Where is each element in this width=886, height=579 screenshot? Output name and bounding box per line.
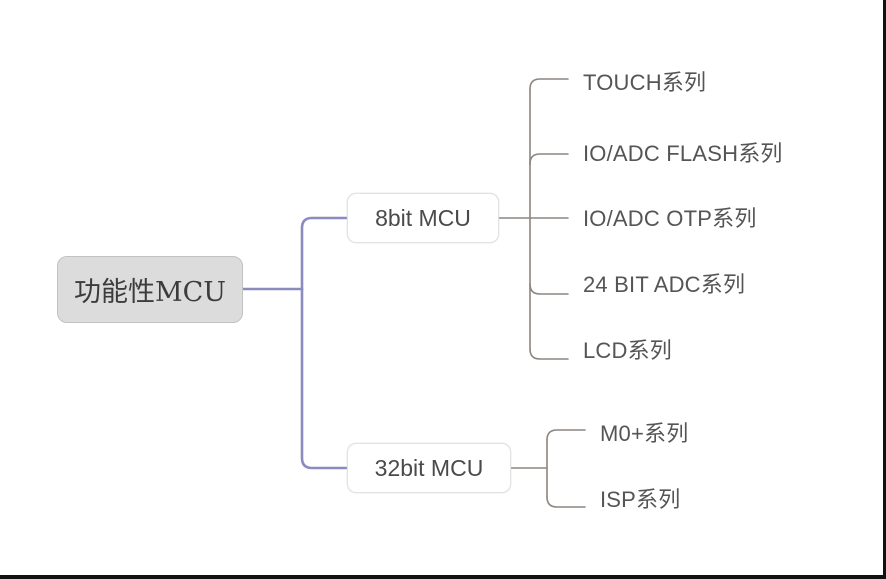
leaf-touch-series[interactable]: TOUCH系列 (583, 72, 706, 94)
connector-trunk-8bit (302, 218, 347, 289)
root-node-label: 功能性MCU (74, 270, 226, 309)
mindmap-canvas: 功能性MCU 8bit MCU 32bit MCU TOUCH系列 IO/ADC… (0, 0, 886, 579)
leaf-isp-series[interactable]: ISP系列 (600, 489, 680, 511)
leaf-lcd-series[interactable]: LCD系列 (583, 340, 672, 362)
connector-trunk-32bit (302, 289, 347, 468)
stub-24bit-adc (530, 284, 568, 294)
leaf-24bit-adc-series[interactable]: 24 BIT ADC系列 (583, 274, 745, 296)
branch-node-8bit-mcu[interactable]: 8bit MCU (347, 193, 499, 243)
stub-io-adc-flash (530, 154, 568, 164)
branch-node-32bit-mcu[interactable]: 32bit MCU (347, 443, 511, 493)
stub-touch (530, 79, 568, 89)
stub-m0plus (547, 430, 585, 440)
branch-node-32bit-mcu-label: 32bit MCU (375, 455, 484, 482)
branch-node-8bit-mcu-label: 8bit MCU (375, 205, 471, 232)
root-node[interactable]: 功能性MCU (57, 256, 243, 323)
leaf-io-adc-otp-series[interactable]: IO/ADC OTP系列 (583, 208, 757, 230)
leaf-io-adc-flash-series[interactable]: IO/ADC FLASH系列 (583, 143, 783, 165)
stub-isp (547, 497, 585, 507)
stub-lcd (530, 349, 568, 359)
leaf-m0plus-series[interactable]: M0+系列 (600, 423, 688, 445)
